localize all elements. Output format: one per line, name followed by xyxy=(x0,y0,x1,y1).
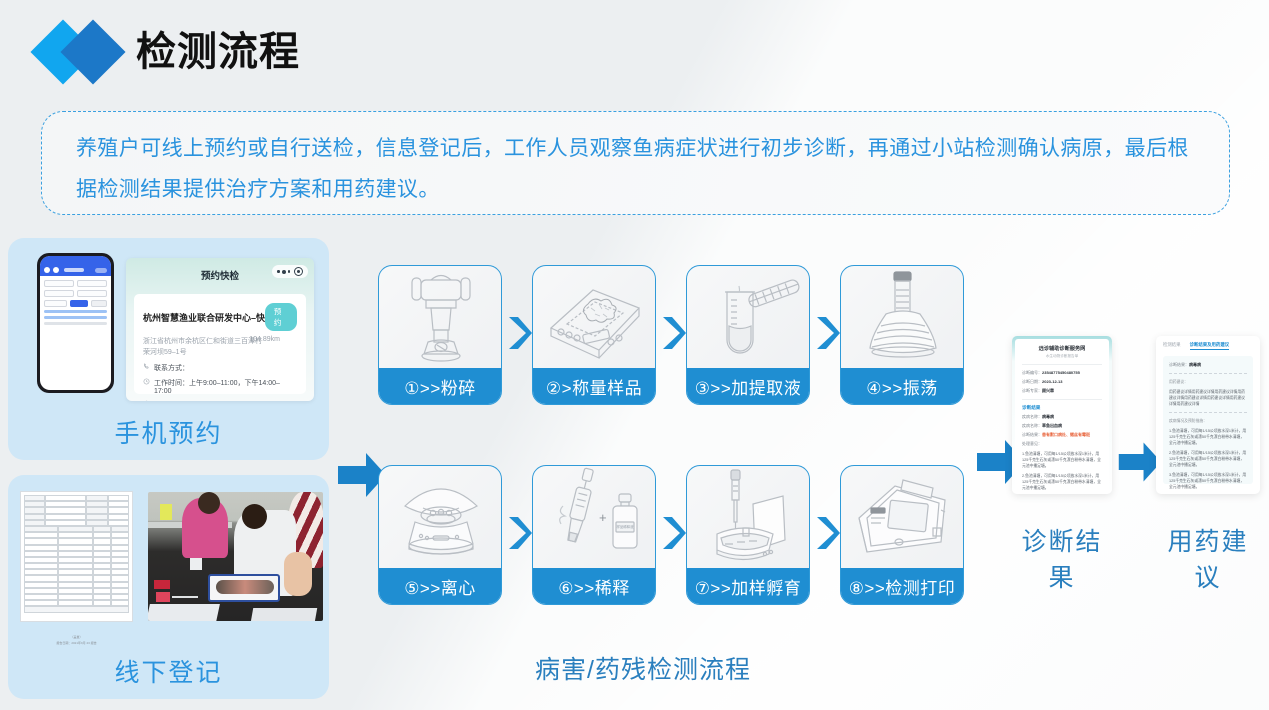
photo-bottle xyxy=(160,504,172,520)
list-item-text: 快检项目：PCR检测、水质检测、药残检测 xyxy=(154,400,288,401)
diagnosis-field: 诊断编号：23548775450480755 xyxy=(1022,370,1102,376)
centrifuge-icon xyxy=(379,466,502,570)
medication-case: 1.鱼池清塘，可用每1/15公顷放水深1米计，用125千克生石灰或漂50千克漂白… xyxy=(1169,428,1247,446)
step-label-4: ④>>振荡 xyxy=(841,368,963,404)
reservation-name-row: 杭州智慧渔业联合研发中心–快... 预约 xyxy=(143,303,297,331)
description-box: 养殖户可线上预约或自行送检，信息登记后，工作人员观察鱼病症状进行初步诊断，再通过… xyxy=(41,111,1230,215)
medication-advice-body: 用药建议详情用药建议详情用药建议详情用药建议详情用药建议详情用药建议详情用药建议… xyxy=(1169,389,1247,407)
field-value-highlight: 患有默口病灶、鳃丝有霉斑 xyxy=(1042,432,1090,437)
photo-paper xyxy=(251,608,317,621)
phone-screen xyxy=(40,256,111,390)
reservation-card: 预约快检 杭州智慧渔业联合研发中心–快... 预约 浙江省杭州市余杭区仁和街道三… xyxy=(126,258,314,401)
field-key: 疾病名称： xyxy=(1022,423,1042,428)
photo-box-red xyxy=(156,592,170,602)
divider xyxy=(1022,399,1102,400)
step-label-6: ⑥>>稀释 xyxy=(533,568,655,604)
result-line xyxy=(44,316,107,319)
field-key: 诊断编号： xyxy=(1022,370,1042,375)
chevron-right-icon xyxy=(814,515,840,551)
diagnosis-advice: 1.鱼池清塘，可用每1/15公顷放水深1米计，用125千克生石灰或漂50千克漂白… xyxy=(1022,451,1102,469)
report-footer-date: 报告日期：2021年9月 23 报告 xyxy=(24,641,129,646)
tab-test-results[interactable]: 检测结果 xyxy=(1163,342,1181,350)
station-address: 浙江省杭州市余杭区仁和街道三百潭村荣河坝59–1号 xyxy=(143,336,265,358)
table-footer-row xyxy=(24,606,129,612)
step-box-2[interactable]: ②>称量样品 xyxy=(532,265,656,405)
diagnosis-section-title: 诊断结果 xyxy=(1022,405,1102,411)
step-box-4[interactable]: ④>>振荡 xyxy=(840,265,964,405)
step-label-2: ②>称量样品 xyxy=(533,368,655,404)
reservation-header: 预约快检 xyxy=(126,258,314,292)
step-box-1[interactable]: ①>>粉碎 xyxy=(378,265,502,405)
more-dot-icon xyxy=(288,270,291,273)
pipette-bottle-icon: + 样品稀释液 xyxy=(533,466,656,570)
step-illustration-7 xyxy=(687,466,809,570)
field-key: 诊断结果： xyxy=(1169,362,1189,367)
list-item-text: 联系方式： xyxy=(154,363,189,373)
photo-head xyxy=(242,504,267,529)
diagnosis-result-row: 疾病名称：病毒病 xyxy=(1022,414,1102,420)
search-button xyxy=(70,300,88,307)
miniprogram-capsule[interactable] xyxy=(272,265,308,278)
clock-icon xyxy=(143,378,150,385)
photo-arm xyxy=(284,552,312,596)
field-key: 疾病名称： xyxy=(1022,414,1042,419)
plus-symbol: + xyxy=(599,510,607,525)
station-name: 杭州智慧渔业联合研发中心–快... xyxy=(143,311,265,324)
diagnosis-result-row: 诊断结果：患有默口病灶、鳃丝有霉斑 xyxy=(1022,432,1102,438)
phone-icon xyxy=(143,363,150,370)
phone-nav-actions xyxy=(95,268,107,273)
chevron-right-icon xyxy=(506,515,532,551)
slide-root: 检测流程 养殖户可线上预约或自行送检，信息登记后，工作人员观察鱼病症状进行初步诊… xyxy=(0,0,1269,710)
step-box-7[interactable]: ⑦>>加样孵育 xyxy=(686,465,810,605)
step-label-1: ①>>粉碎 xyxy=(379,368,501,404)
flow-caption: 病害/药残检测流程 xyxy=(535,650,751,686)
field-value: 2023-12-13 xyxy=(1042,379,1062,384)
person-icon xyxy=(143,400,150,401)
phone-status-bar xyxy=(40,256,111,264)
divider xyxy=(1169,373,1247,374)
select-field xyxy=(44,290,74,297)
step-label-7: ⑦>>加样孵育 xyxy=(687,568,809,604)
page-title: 检测流程 xyxy=(136,32,300,72)
field-key: 诊断日期： xyxy=(1022,379,1042,384)
medication-panel: 诊断结果：病毒病 用药建议： 用药建议详情用药建议详情用药建议详情用药建议详情用… xyxy=(1163,356,1253,484)
divider xyxy=(1169,412,1247,413)
medication-result-row: 诊断结果：病毒病 xyxy=(1169,362,1247,368)
card-offline-registration: （盖章） 报告日期：2021年9月 23 报告 线下登记 xyxy=(8,475,329,699)
field-value: 草鱼出血病 xyxy=(1042,423,1062,428)
step-box-3[interactable]: ③>>加提取液 xyxy=(686,265,810,405)
app-icon xyxy=(53,267,59,273)
step-illustration-1 xyxy=(379,266,501,370)
test-tube-icon xyxy=(687,266,810,370)
field-value: 23548775450480755 xyxy=(1042,370,1080,375)
step-box-5[interactable]: ⑤>>离心 xyxy=(378,465,502,605)
photo-pen xyxy=(172,596,198,598)
diagnosis-caption: 诊断结果 xyxy=(1012,522,1112,594)
text-field xyxy=(44,300,67,307)
list-item: 快检项目：PCR检测、水质检测、药残检测 xyxy=(143,400,297,401)
step-label-5: ⑤>>离心 xyxy=(379,568,501,604)
svg-text:样品稀释液: 样品稀释液 xyxy=(617,524,635,529)
form-row xyxy=(44,290,107,297)
list-item: 工作时间：上午9:00–11:00，下午14:00–17:00 xyxy=(143,378,297,395)
select-field xyxy=(44,280,74,287)
step-box-8[interactable]: ⑧>>检测打印 xyxy=(840,465,964,605)
step-illustration-2 xyxy=(533,266,655,370)
incubator-icon xyxy=(687,466,810,570)
chevron-right-icon xyxy=(506,315,532,351)
reservation-panel: 杭州智慧渔业联合研发中心–快... 预约 浙江省杭州市余杭区仁和街道三百潭村荣河… xyxy=(134,294,306,394)
medication-advice-key: 用药建议： xyxy=(1169,379,1247,385)
photo-fish xyxy=(216,580,274,594)
form-row xyxy=(44,280,107,287)
field-value: 病毒病 xyxy=(1042,414,1054,419)
photo-head xyxy=(198,492,220,514)
form-row xyxy=(44,300,107,307)
field-key: 诊断结果： xyxy=(1022,432,1042,437)
diagnosis-card-subtitle: 水生动物诊断报告单 xyxy=(1022,354,1102,359)
card-caption-phone: 手机预约 xyxy=(8,414,329,450)
chevron-right-icon xyxy=(814,315,840,351)
result-line xyxy=(44,310,107,313)
report-sheet: （盖章） 报告日期：2021年9月 23 报告 xyxy=(20,491,133,622)
description-text: 养殖户可线上预约或自行送检，信息登记后，工作人员观察鱼病症状进行初步诊断，再通过… xyxy=(76,128,1195,210)
phone-mockup xyxy=(37,253,114,393)
reader-printer-icon xyxy=(841,466,964,570)
medication-cases-key: 疾病情况及预防措施： xyxy=(1169,418,1247,424)
diagnosis-field: 诊断日期：2023-12-13 xyxy=(1022,379,1102,385)
more-dot-icon xyxy=(277,270,280,273)
medication-caption: 用药建议 xyxy=(1156,522,1260,594)
shaker-icon xyxy=(841,266,964,370)
list-item: 联系方式： xyxy=(143,363,297,373)
field-key: 处理意见： xyxy=(1022,441,1042,446)
chevron-right-icon xyxy=(660,515,686,551)
list-item-text: 工作时间：上午9:00–11:00，下午14:00–17:00 xyxy=(154,378,297,395)
field-value: 病毒病 xyxy=(1189,362,1201,367)
medication-tabs: 检测结果 诊断结果及用药建议 xyxy=(1163,342,1253,350)
registration-photo xyxy=(148,492,323,621)
scale-icon xyxy=(533,266,656,370)
step-illustration-6: + 样品稀释液 xyxy=(533,466,655,570)
reset-button xyxy=(91,300,107,307)
diagnosis-advice: 2.鱼池清塘，可用每1/15公顷放水深1米计，用125千克生石灰或漂50千克漂白… xyxy=(1022,473,1102,491)
result-line xyxy=(44,322,107,325)
medication-case: 3.鱼池清塘，可用每1/15公顷放水深1米计，用125千克生石灰或漂50千克漂白… xyxy=(1169,472,1247,490)
select-field xyxy=(77,280,107,287)
chevron-right-icon xyxy=(660,315,686,351)
phone-nav-bar xyxy=(40,264,111,276)
diagnosis-result-row: 处理意见： xyxy=(1022,441,1102,447)
medication-case: 2.鱼池清塘，可用每1/15公顷放水深1米计，用125千克生石灰或漂50千克漂白… xyxy=(1169,450,1247,468)
close-target-icon xyxy=(294,267,303,276)
diagnosis-card-title: 远诊辅助诊断服务网 xyxy=(1022,345,1102,352)
phone-form xyxy=(40,276,111,325)
diagnosis-result-card: 远诊辅助诊断服务网 水生动物诊断报告单 诊断编号：235487754504807… xyxy=(1012,336,1112,494)
step-illustration-8 xyxy=(841,466,963,570)
station-distance: 104.89km xyxy=(249,336,280,343)
field-key: 诊断专家： xyxy=(1022,388,1042,393)
report-footer-stamp: （盖章） xyxy=(24,635,129,640)
divider xyxy=(1022,364,1102,365)
step-label-8: ⑧>>检测打印 xyxy=(841,568,963,604)
step-illustration-4 xyxy=(841,266,963,370)
text-field xyxy=(77,290,107,297)
grinder-icon xyxy=(379,266,502,370)
diagnosis-field: 诊断专家：顾兴章 xyxy=(1022,388,1102,394)
step-illustration-3 xyxy=(687,266,809,370)
field-value: 顾兴章 xyxy=(1042,388,1054,393)
page-header: 检测流程 xyxy=(38,18,300,86)
book-button[interactable]: 预约 xyxy=(265,303,297,331)
step-illustration-5 xyxy=(379,466,501,570)
tab-diagnosis-advice[interactable]: 诊断结果及用药建议 xyxy=(1190,342,1230,350)
step-box-6[interactable]: + 样品稀释液 ⑥>>稀释 xyxy=(532,465,656,605)
diagnosis-card-inner: 远诊辅助诊断服务网 水生动物诊断报告单 诊断编号：235487754504807… xyxy=(1015,339,1109,491)
phone-nav-title xyxy=(64,268,84,272)
back-icon xyxy=(44,267,50,273)
medication-advice-card: 检测结果 诊断结果及用药建议 诊断结果：病毒病 用药建议： 用药建议详情用药建议… xyxy=(1156,336,1260,494)
more-dot-icon xyxy=(282,270,286,274)
card-phone-reservation: 预约快检 杭州智慧渔业联合研发中心–快... 预约 浙江省杭州市余杭区仁和街道三… xyxy=(8,238,329,460)
photo-paper xyxy=(148,604,220,621)
logo-diamonds-icon xyxy=(38,18,132,86)
step-label-3: ③>>加提取液 xyxy=(687,368,809,404)
photo-box-red xyxy=(154,580,170,589)
card-caption-offline: 线下登记 xyxy=(8,653,329,689)
diagnosis-result-row: 疾病名称：草鱼出血病 xyxy=(1022,423,1102,429)
